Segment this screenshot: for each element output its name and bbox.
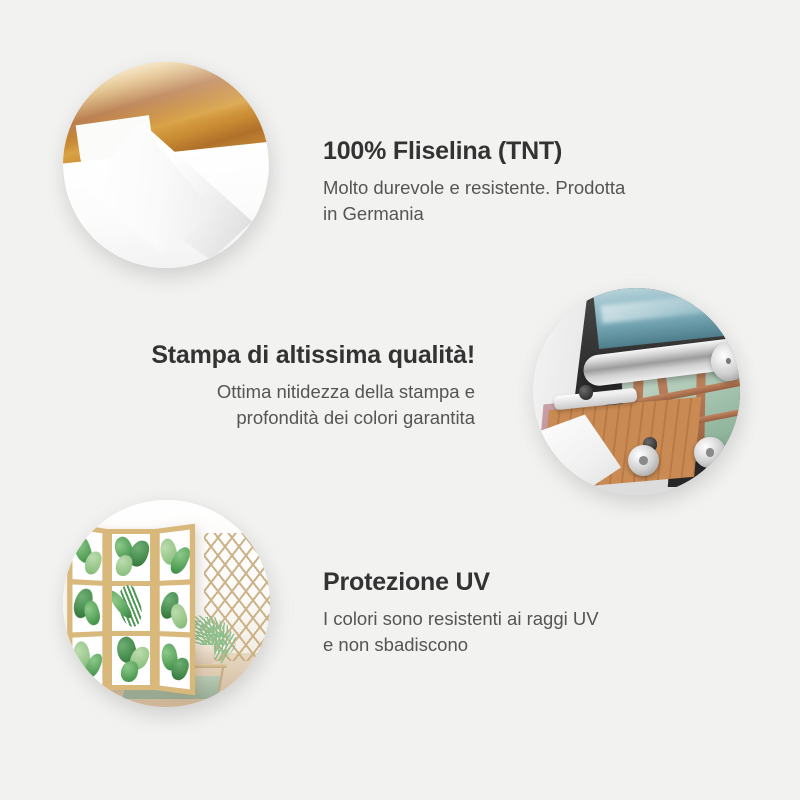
printer-wheel xyxy=(694,437,725,468)
feature-heading-protezione-uv: Protezione UV xyxy=(323,567,723,597)
promo-infographic: 100% Fliselina (TNT) Molto durevole e re… xyxy=(0,0,800,800)
feature-image-protezione-uv xyxy=(63,500,270,707)
tropical-room-divider-photo xyxy=(63,500,270,707)
feature-image-fliselina xyxy=(63,62,269,268)
feature-heading-stampa: Stampa di altissima qualità! xyxy=(110,340,475,370)
feature-heading-fliselina: 100% Fliselina (TNT) xyxy=(323,136,723,166)
feature-body-protezione-uv: I colori sono resistenti ai raggi UV e n… xyxy=(323,606,723,657)
divider-panel xyxy=(107,529,155,690)
folding-room-divider xyxy=(67,529,195,690)
feature-body-stampa: Ottima nitidezza della stampa e profondi… xyxy=(110,379,475,430)
feature-image-stampa xyxy=(533,288,740,495)
feature-text-protezione-uv: Protezione UV I colori sono resistenti a… xyxy=(323,567,723,657)
feature-text-stampa: Stampa di altissima qualità! Ottima niti… xyxy=(110,340,475,430)
printer-knob xyxy=(579,385,593,399)
wallpaper-roll-peeling-photo xyxy=(63,62,269,268)
feature-text-fliselina: 100% Fliselina (TNT) Molto durevole e re… xyxy=(323,136,723,226)
divider-panel xyxy=(155,524,195,696)
printing-press-photo xyxy=(533,288,740,495)
divider-panel xyxy=(67,523,107,696)
feature-body-fliselina: Molto durevole e resistente. Prodotta in… xyxy=(323,175,723,226)
